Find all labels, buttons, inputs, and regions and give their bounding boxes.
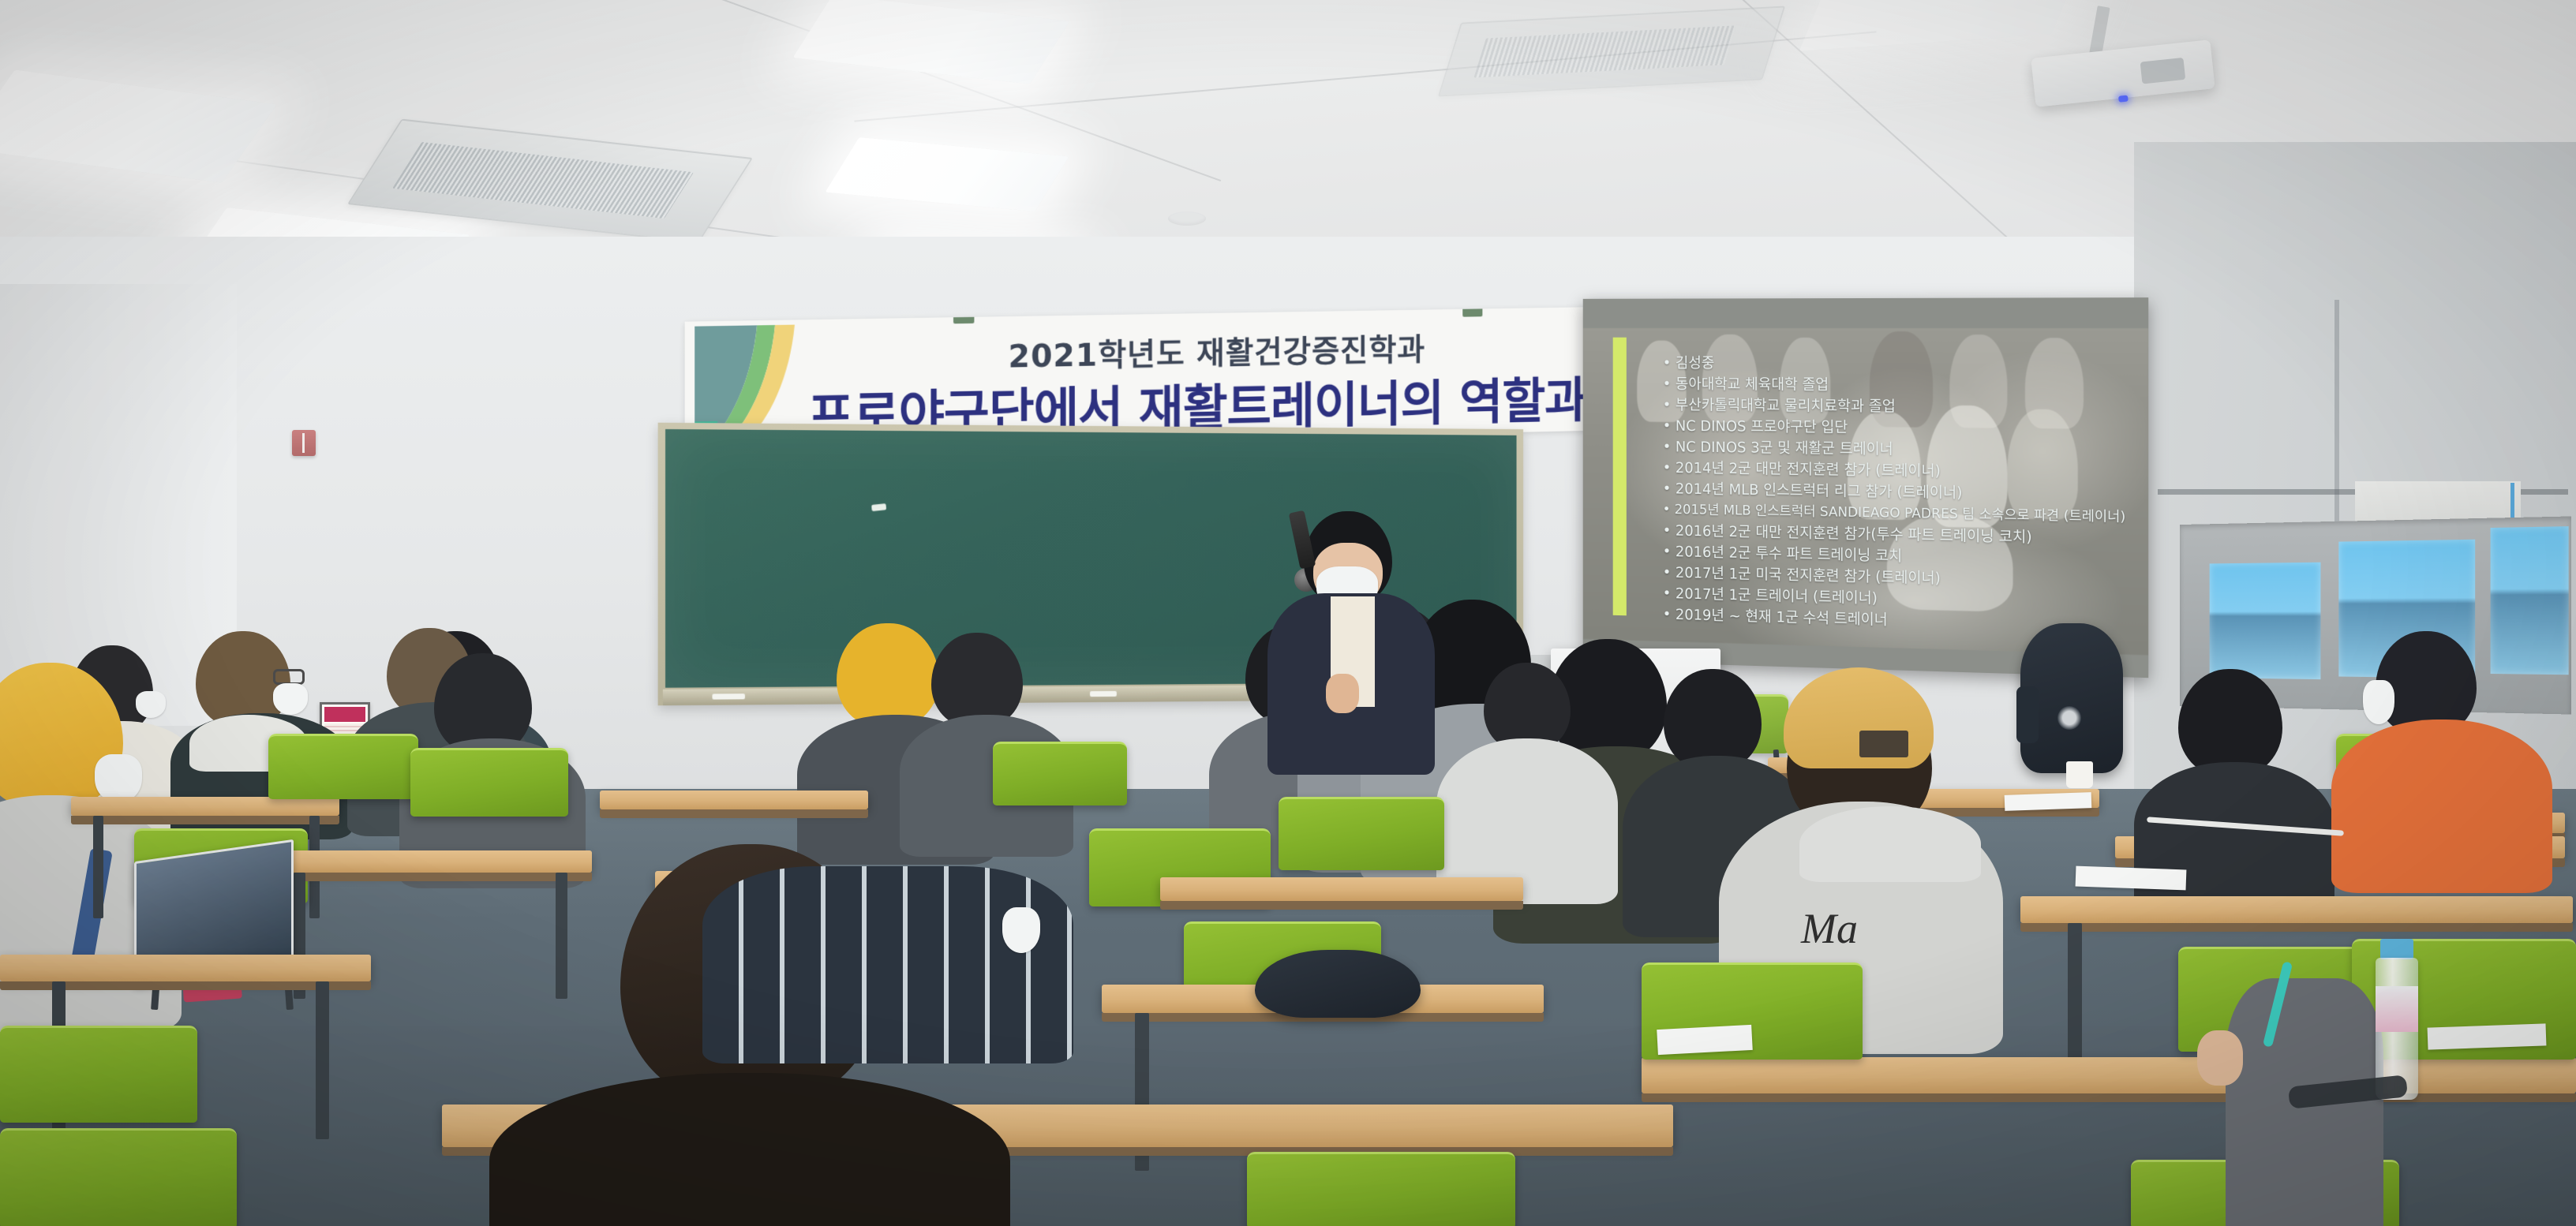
ceiling-projector	[2031, 39, 2215, 107]
face-mask	[2363, 680, 2394, 724]
presenter-hand	[1326, 674, 1359, 713]
chair[interactable]	[993, 742, 1127, 805]
face-mask	[273, 683, 308, 715]
slide-bullet-list: 김성중 동아대학교 체육대학 졸업 부산카톨릭대학교 물리치료학과 졸업 NC …	[1632, 353, 2148, 638]
chair[interactable]	[410, 748, 568, 817]
ceiling-light	[0, 69, 277, 182]
chalk-piece[interactable]	[1090, 691, 1117, 697]
paper-sheet[interactable]	[2428, 1023, 2547, 1049]
slide-bullet: 동아대학교 체육대학 졸업	[1663, 374, 2148, 398]
student-head	[931, 633, 1023, 727]
wall-panel	[2334, 300, 2339, 536]
paper-sheet[interactable]	[1657, 1025, 1753, 1055]
student-body-plaid	[702, 866, 1073, 1063]
presenter	[1294, 511, 1318, 592]
chair[interactable]	[1279, 797, 1444, 870]
desk	[1642, 1057, 2576, 1093]
bottle-cap[interactable]	[2380, 939, 2413, 959]
student-body	[2331, 720, 2552, 893]
student-head	[2178, 669, 2282, 776]
student-head	[837, 623, 939, 727]
ceiling-light	[1799, 0, 2076, 51]
hood	[1799, 806, 1981, 882]
face-mask	[95, 754, 142, 803]
student-hand	[2197, 1030, 2243, 1086]
face-mask	[136, 691, 166, 718]
chair[interactable]	[0, 1128, 237, 1226]
desk	[71, 797, 339, 816]
projection-screen: 김성중 동아대학교 체육대학 졸업 부산카톨릭대학교 물리치료학과 졸업 NC …	[1583, 297, 2149, 678]
desk	[0, 955, 371, 981]
desk-leg	[2068, 923, 2082, 1073]
air-vent	[1438, 6, 1785, 96]
face-mask	[1002, 907, 1040, 953]
bottle-label	[2376, 986, 2418, 1032]
paper-sheet[interactable]	[2076, 866, 2187, 891]
paper-cup[interactable]	[2066, 761, 2093, 788]
eyeglasses-icon	[273, 669, 305, 685]
window-pane	[2210, 563, 2321, 679]
chair[interactable]	[268, 734, 418, 799]
backpack[interactable]	[1255, 950, 1421, 1018]
desk-leg	[556, 873, 567, 999]
classroom-photo: 2021학년도 재활건강증진학과 프로야구단에서 재활트레이너의 역할과 진로	[0, 0, 2576, 1226]
desk-leg	[93, 816, 103, 918]
backpack[interactable]	[2020, 623, 2123, 773]
desk-leg	[316, 981, 329, 1139]
fire-alarm-box[interactable]	[292, 430, 316, 456]
smoke-detector-icon	[1168, 211, 1206, 226]
hoodie-graphic-text: Ma	[1801, 904, 1858, 953]
student-head	[1664, 669, 1762, 770]
chalk-piece[interactable]	[712, 693, 745, 699]
desk	[2020, 896, 2573, 923]
ceiling-light	[825, 137, 1069, 211]
backpack-pocket	[2016, 686, 2039, 743]
desk	[260, 850, 592, 873]
cap-strap-gap	[1859, 731, 1908, 757]
slide-accent-bar	[1613, 338, 1627, 616]
desk	[600, 791, 868, 809]
ceiling-light	[792, 0, 1069, 84]
window-pane	[2491, 526, 2569, 675]
slide-bullet: 김성중	[1663, 353, 2148, 376]
paper-sheet[interactable]	[2005, 792, 2092, 811]
air-vent	[347, 119, 753, 244]
desk	[1160, 877, 1523, 901]
chair[interactable]	[0, 1026, 197, 1123]
chair[interactable]	[1247, 1152, 1515, 1226]
backpack-logo-icon	[2057, 706, 2081, 730]
